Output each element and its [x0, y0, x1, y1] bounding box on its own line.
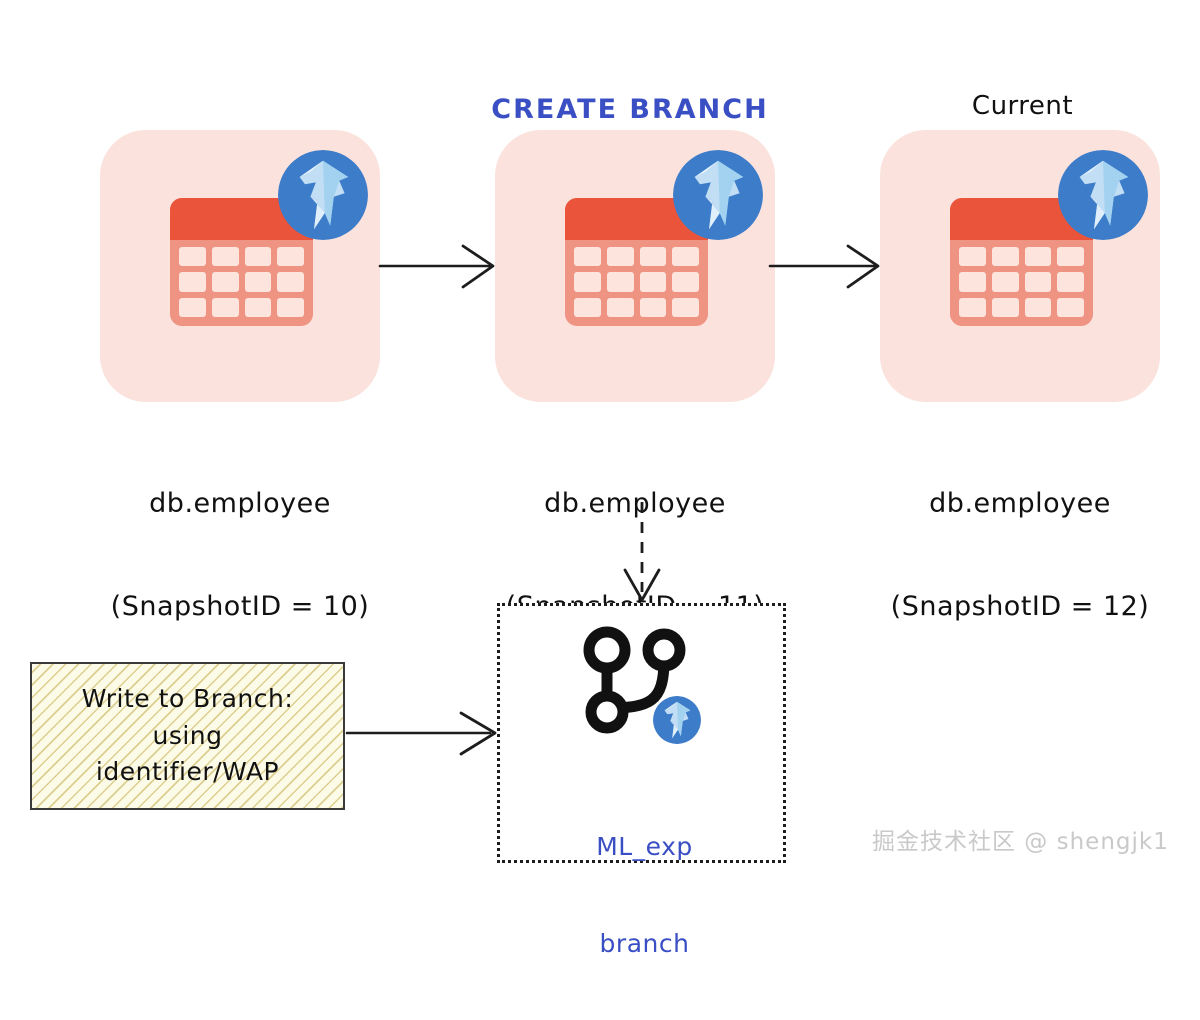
arrow-note-to-branch	[345, 705, 500, 760]
table-icon-cell	[959, 247, 986, 266]
table-icon-cell	[672, 272, 699, 291]
table-icon-cell	[574, 247, 601, 266]
table-icon-cell	[245, 247, 272, 266]
snapshot-card-2-inner	[495, 130, 775, 402]
table-icon-cell	[277, 272, 304, 291]
table-icon-cell	[1057, 272, 1084, 291]
current-snapshot-label-line1: Current	[885, 91, 1160, 123]
table-icon-cell	[1025, 272, 1052, 291]
branch-label-line1: ML_exp	[500, 832, 789, 863]
iceberg-icon	[278, 150, 368, 240]
iceberg-icon-svg	[1058, 150, 1148, 240]
table-icon-cell	[1057, 298, 1084, 317]
table-icon-cell	[640, 272, 667, 291]
write-to-branch-note[interactable]: Write to Branch: using identifier/WAP	[30, 662, 345, 810]
table-icon-cell	[277, 298, 304, 317]
table-icon-cell	[959, 298, 986, 317]
arrow-snapshot2-to-branch	[612, 500, 672, 605]
watermark: 掘金技术社区 @ shengjk1	[872, 822, 1169, 856]
table-icon-cell	[992, 298, 1019, 317]
iceberg-icon	[1058, 150, 1148, 240]
branch-container[interactable]: ML_exp branch	[497, 603, 786, 863]
table-icon-cell	[245, 298, 272, 317]
table-icon-cell	[640, 247, 667, 266]
table-icon-cell	[277, 247, 304, 266]
diagram-canvas: CREATE BRANCH ML_exp Current Snapshot	[0, 0, 1200, 881]
snapshot-3-detail: (SnapshotID = 12)	[875, 591, 1165, 624]
table-icon-grid	[565, 240, 708, 326]
table-icon-grid	[170, 240, 313, 326]
table-icon-cell	[640, 298, 667, 317]
table-icon-cell	[574, 298, 601, 317]
arrow-snapshot2-to-snapshot3	[768, 238, 888, 293]
table-icon-cell	[672, 298, 699, 317]
table-icon-cell	[179, 298, 206, 317]
snapshot-1-name: db.employee	[95, 488, 385, 521]
table-icon-cell	[212, 247, 239, 266]
table-icon-cell	[1057, 247, 1084, 266]
branch-label: ML_exp branch	[500, 771, 789, 1020]
snapshot-card-3-inner	[880, 130, 1160, 402]
table-icon-cell	[1025, 298, 1052, 317]
snapshot-3-name: db.employee	[875, 488, 1165, 521]
snapshot-card-1-inner	[100, 130, 380, 402]
table-icon-cell	[607, 298, 634, 317]
table-icon-cell	[179, 247, 206, 266]
table-icon-cell	[607, 247, 634, 266]
snapshot-card-2[interactable]	[495, 130, 775, 402]
note-line-3: identifier/WAP	[96, 757, 279, 788]
table-icon-grid	[950, 240, 1093, 326]
table-icon-cell	[959, 272, 986, 291]
arrow-snapshot1-to-snapshot2	[378, 238, 503, 293]
table-icon-cell	[1025, 247, 1052, 266]
iceberg-icon	[673, 150, 763, 240]
iceberg-icon-svg	[278, 150, 368, 240]
table-icon-cell	[212, 298, 239, 317]
note-line-2: using	[152, 721, 222, 752]
snapshot-card-3[interactable]	[880, 130, 1160, 402]
table-icon-cell	[672, 247, 699, 266]
iceberg-icon	[653, 696, 701, 744]
iceberg-icon-svg	[673, 150, 763, 240]
table-icon-cell	[992, 272, 1019, 291]
snapshot-card-1[interactable]	[100, 130, 380, 402]
snapshot-1-detail: (SnapshotID = 10)	[95, 591, 385, 624]
table-icon-cell	[212, 272, 239, 291]
snapshot-card-3-caption: db.employee (SnapshotID = 12)	[875, 422, 1165, 690]
table-icon-cell	[992, 247, 1019, 266]
snapshot-card-1-caption: db.employee (SnapshotID = 10)	[95, 422, 385, 690]
create-branch-label-line1: CREATE BRANCH	[455, 94, 805, 127]
table-icon-cell	[574, 272, 601, 291]
table-icon-cell	[245, 272, 272, 291]
table-icon-cell	[179, 272, 206, 291]
branch-label-line2: branch	[500, 929, 789, 960]
iceberg-icon-svg	[653, 696, 701, 744]
note-line-1: Write to Branch:	[82, 684, 294, 715]
table-icon-cell	[607, 272, 634, 291]
